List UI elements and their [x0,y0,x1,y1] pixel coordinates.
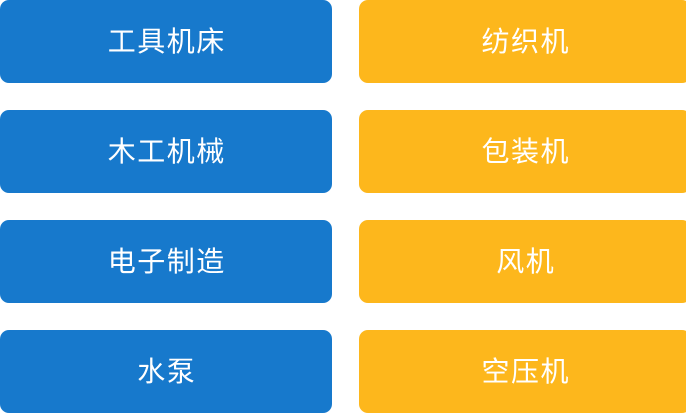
category-button-woodworking-machinery[interactable]: 木工机械 [0,110,332,193]
category-button-packaging-machine[interactable]: 包装机 [359,110,686,193]
category-button-label: 空压机 [480,358,570,386]
category-button-fan[interactable]: 风机 [359,220,686,303]
category-button-label: 工具机床 [106,28,226,56]
category-button-label: 包装机 [480,138,570,166]
category-button-label: 纺织机 [480,28,570,56]
category-button-electronics-manufacturing[interactable]: 电子制造 [0,220,332,303]
category-button-textile-machine[interactable]: 纺织机 [359,0,686,83]
category-button-label: 水泵 [136,358,197,386]
category-button-grid: 工具机床 纺织机 木工机械 包装机 电子制造 风机 水泵 空压机 [0,0,686,401]
category-button-machine-tools[interactable]: 工具机床 [0,0,332,83]
category-button-label: 电子制造 [106,248,226,276]
category-button-label: 风机 [495,248,556,276]
button-grid-inner: 工具机床 纺织机 木工机械 包装机 电子制造 风机 水泵 空压机 [0,0,686,413]
category-button-label: 木工机械 [106,138,226,166]
